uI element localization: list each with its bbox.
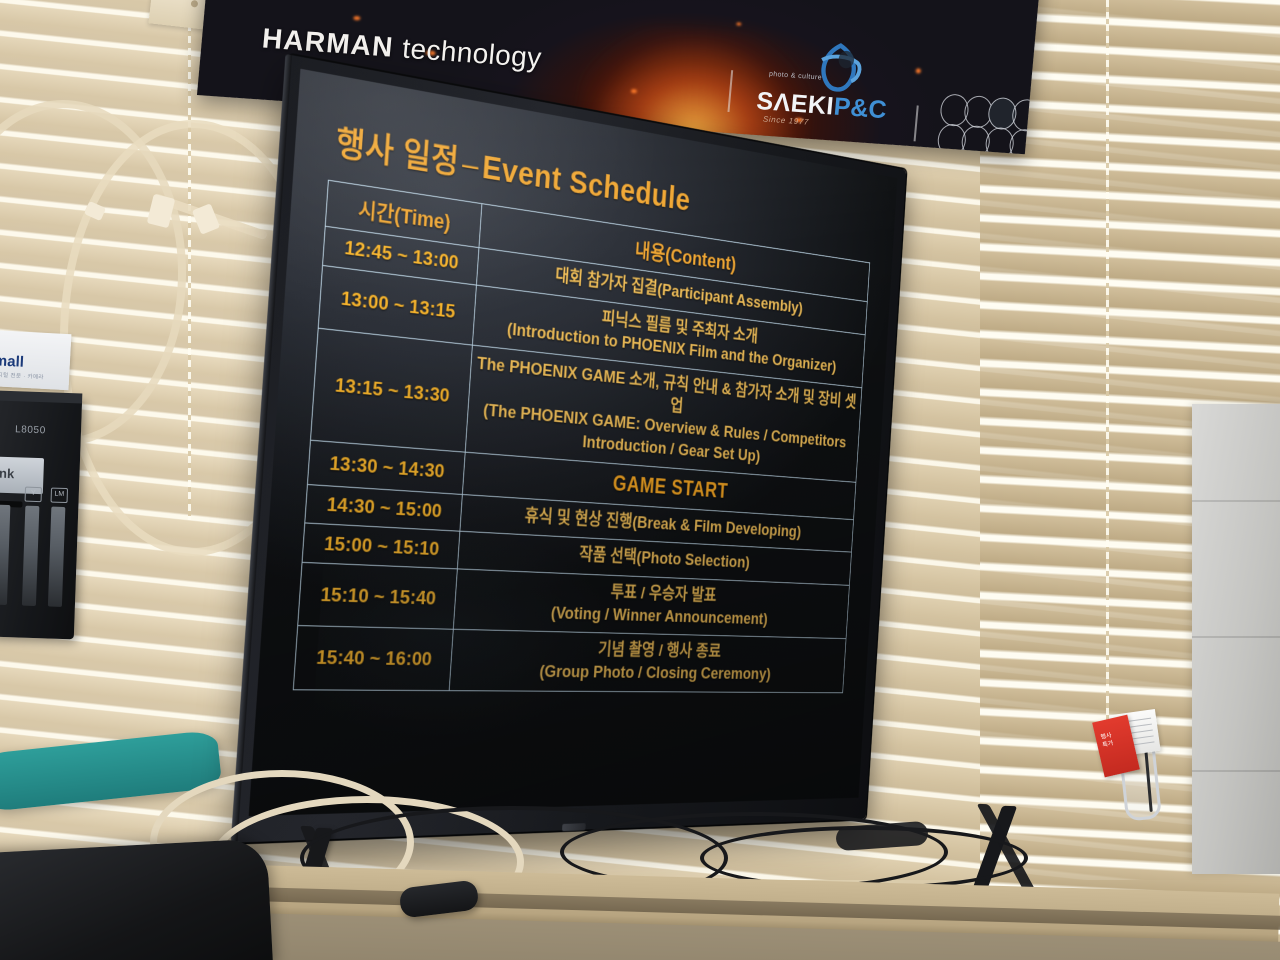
price-tag-text: 행사 특가 [1100,733,1114,751]
cell-time: 13:15 ~ 13:30 [310,328,472,452]
cell-time: 15:40 ~ 16:00 [293,626,453,690]
room-scene: HARMAN technology photo & culture SΛEKIP… [0,0,1280,960]
tv-bezel: 행사 일정–Event Schedule 시간(Time) 내용(Content… [235,55,907,843]
slide-content: 행사 일정–Event Schedule 시간(Time) 내용(Content… [249,69,898,816]
cell-content: 기념 촬영 / 행사 종료(Group Photo / Closing Cere… [449,630,846,693]
content-line-1: 기념 촬영 / 행사 종료 [597,641,721,662]
tv-screen: 행사 일정–Event Schedule 시간(Time) 내용(Content… [249,69,898,816]
black-bag [0,838,273,960]
slide-title-dash: – [458,145,484,185]
slide-title-korean: 행사 일정 [335,124,460,182]
content-line-1: GAME START [612,471,728,502]
content-line-1: 작품 선택(Photo Selection) [578,546,750,573]
schedule-table-body: 12:45 ~ 13:00대회 참가자 집결(Participant Assem… [293,226,867,692]
schedule-table: 시간(Time) 내용(Content) 12:45 ~ 13:00대회 참가자… [293,180,870,693]
content-line-2: (Group Photo / Closing Ceremony) [455,660,840,686]
content-line-2: (Voting / Winner Announcement) [459,599,843,632]
content-line-1: 투표 / 우승자 발표 [610,583,717,605]
cell-time: 15:10 ~ 15:40 [298,562,457,629]
cell-time: 15:00 ~ 15:10 [302,523,460,569]
